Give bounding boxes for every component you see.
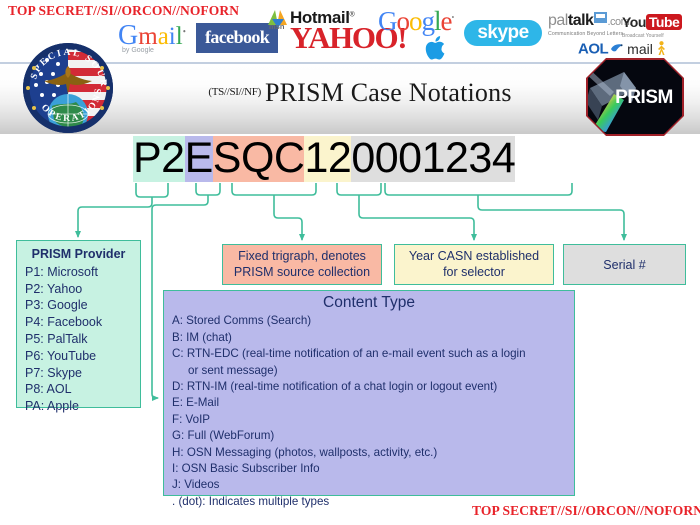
paltalk-logo: paltalk.com. Communication Beyond Letter… — [548, 12, 632, 37]
provider-item: P4: Facebook — [25, 315, 102, 329]
facebook-logo: facebook — [196, 23, 278, 53]
notation-segment-content-type: E — [185, 136, 213, 182]
apple-logo — [424, 34, 450, 62]
skype-logo: skype — [464, 20, 542, 46]
case-notation-string: P2 E SQC 12 0001234 — [133, 136, 515, 182]
google-logo: Google• — [378, 8, 453, 35]
provider-item: P6: YouTube — [25, 349, 96, 363]
aol-bird-icon — [610, 42, 625, 55]
aol-runningman-icon — [656, 41, 667, 56]
paltalk-glyph-icon — [594, 12, 607, 23]
trigraph-line-1: Fixed trigraph, denotes — [238, 249, 366, 263]
paltalk-tagline: Communication Beyond Letters — [548, 31, 632, 37]
notation-segment-provider: P2 — [133, 136, 185, 182]
fixed-trigraph-box: Fixed trigraph, denotes PRISM source col… — [222, 244, 382, 285]
content-type-item: B: IM (chat) — [172, 330, 566, 346]
provider-item: P7: Skype — [25, 366, 82, 380]
youtube-logo: YouTube Broadcast Yourself — [622, 14, 682, 39]
year-line-1: Year CASN established — [409, 249, 539, 263]
provider-item: P5: PalTalk — [25, 332, 88, 346]
prism-case-notations-slide: TOP SECRET//SI//ORCON//NOFORN Gmail• by … — [0, 0, 700, 525]
provider-item: P8: AOL — [25, 382, 72, 396]
content-type-item: F: VoIP — [172, 412, 566, 428]
classification-banner-bottom: TOP SECRET//SI//ORCON//NOFORN — [472, 503, 700, 519]
title-main-text: PRISM Case Notations — [265, 78, 512, 107]
content-type-item: J: Videos — [172, 477, 566, 493]
aol-mail-logo: AOL mail — [578, 40, 667, 58]
content-type-item: C: RTN-EDC (real-time notification of an… — [172, 346, 566, 362]
page-title: (TS//SI//NF) PRISM Case Notations — [150, 78, 570, 108]
provider-item: PA: Apple — [25, 399, 79, 413]
content-type-item: A: Stored Comms (Search) — [172, 313, 566, 329]
notation-segment-year: 12 — [304, 136, 351, 182]
title-classification-marking: (TS//SI//NF) — [208, 86, 261, 98]
content-type-item: G: Full (WebForum) — [172, 428, 566, 444]
content-box-title: Content Type — [164, 295, 574, 311]
trigraph-line-2: PRISM source collection — [234, 265, 370, 279]
msn-butterfly-icon: msn — [268, 9, 288, 28]
year-casn-box: Year CASN established for selector — [394, 244, 554, 285]
prism-provider-legend-box: PRISM Provider P1: Microsoft P2: Yahoo P… — [16, 240, 141, 408]
prism-badge-label: PRISM — [615, 87, 673, 108]
serial-label: Serial # — [603, 258, 645, 272]
notation-segment-trigraph: SQC — [213, 136, 305, 182]
content-type-box: Content Type A: Stored Comms (Search) B:… — [163, 290, 575, 496]
content-type-item-continuation: or sent message) — [172, 363, 566, 379]
content-type-item: H: OSN Messaging (photos, wallposts, act… — [172, 445, 566, 461]
provider-box-title: PRISM Provider — [25, 246, 140, 263]
content-type-item: D: RTN-IM (real-time notification of a c… — [172, 379, 566, 395]
serial-number-box: Serial # — [563, 244, 686, 285]
content-type-list: A: Stored Comms (Search) B: IM (chat) C:… — [164, 313, 574, 510]
gmail-logo: Gmail• by Google — [118, 22, 186, 54]
youtube-tagline: Broadcast Yourself — [622, 33, 682, 39]
year-line-2: for selector — [443, 265, 505, 279]
provider-item: P2: Yahoo — [25, 282, 82, 296]
provider-item: P1: Microsoft — [25, 265, 98, 279]
prism-badge-logo: PRISM — [584, 58, 692, 136]
content-type-item: I: OSN Basic Subscriber Info — [172, 461, 566, 477]
content-type-item: E: E-Mail — [172, 395, 566, 411]
special-source-operations-seal: SPECIAL SOURCE OPERATIONS — [14, 42, 122, 134]
provider-item: P3: Google — [25, 298, 88, 312]
notation-segment-serial: 0001234 — [351, 136, 515, 182]
